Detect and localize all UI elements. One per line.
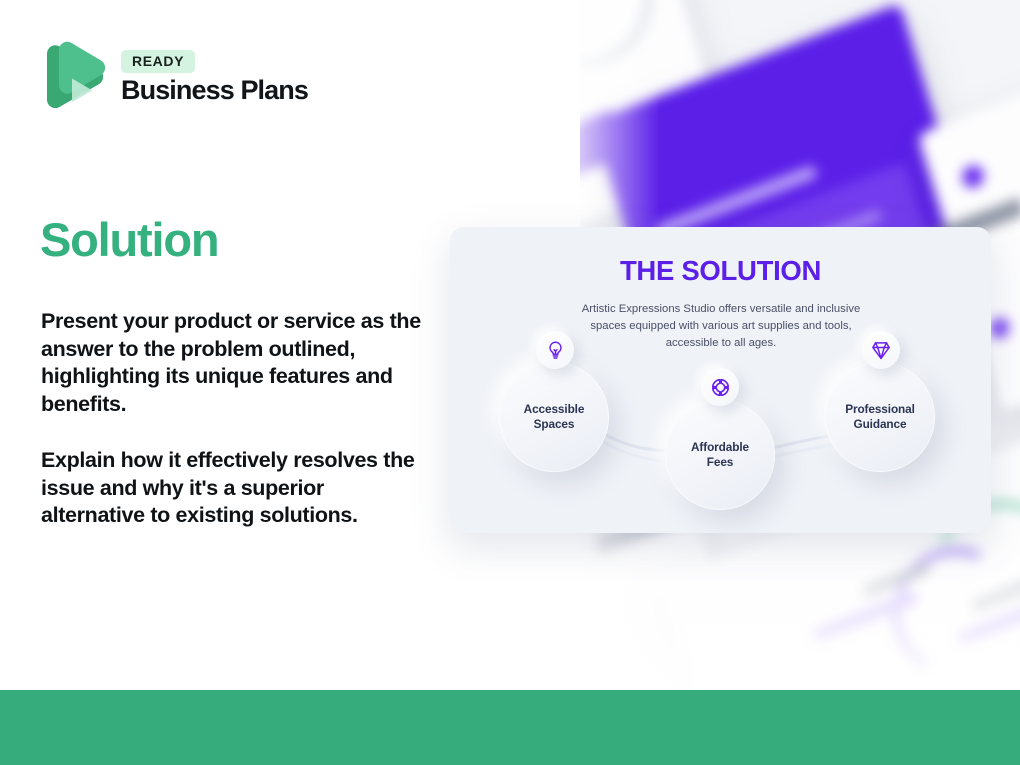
footer-band	[0, 690, 1020, 765]
pie-chart-icon[interactable]	[701, 368, 739, 406]
bg-dot-purple	[960, 162, 987, 191]
node-circle[interactable]: Accessible Spaces	[499, 362, 609, 472]
node-label: Affordable Fees	[691, 440, 749, 469]
body-paragraph-1: Present your product or service as the a…	[41, 308, 431, 419]
solution-card: THE SOLUTION Artistic Expressions Studio…	[450, 227, 991, 533]
ready-badge: READY	[121, 50, 195, 73]
play-triangle-logo-icon	[41, 38, 107, 116]
solution-node-group: Accessible Spaces Affordable Fees	[450, 227, 991, 533]
node-circle[interactable]: Professional Guidance	[825, 362, 935, 472]
brand-name: Business Plans	[121, 76, 308, 104]
page-title: Solution	[40, 216, 218, 263]
node-label: Accessible Spaces	[524, 402, 585, 431]
slide-canvas: READY Business Plans Solution Present yo…	[0, 0, 1020, 765]
node-label: Professional Guidance	[845, 402, 915, 431]
bg-ring-grey	[580, 0, 669, 86]
node-circle[interactable]: Affordable Fees	[665, 400, 775, 510]
body-paragraph-2: Explain how it effectively resolves the …	[41, 447, 431, 530]
diamond-icon[interactable]	[862, 331, 900, 369]
lightbulb-icon[interactable]	[536, 331, 574, 369]
left-content-panel: READY Business Plans Solution Present yo…	[0, 0, 470, 690]
brand-lockup: READY Business Plans	[41, 38, 308, 116]
brand-text: READY Business Plans	[121, 50, 308, 104]
